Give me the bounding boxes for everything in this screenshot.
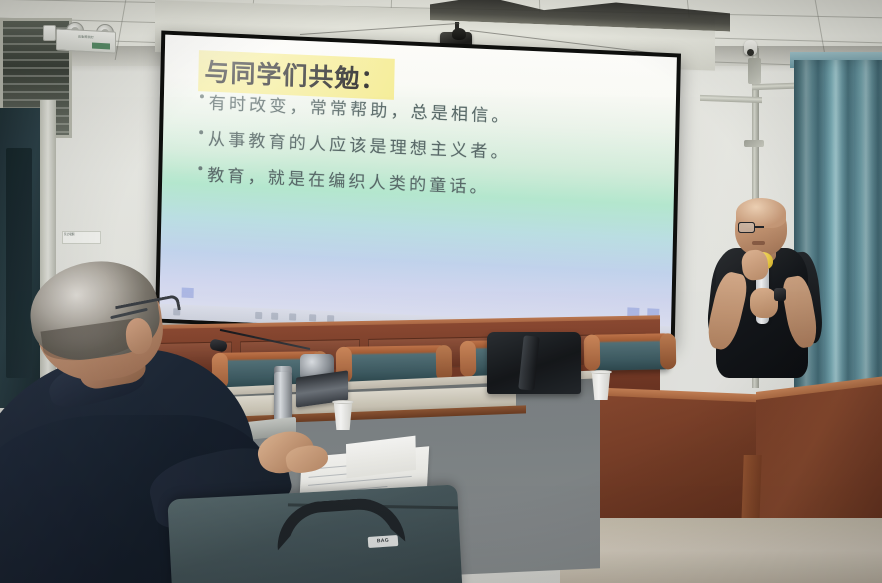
conference-chair[interactable] <box>590 333 671 370</box>
emergency-exit-strip <box>92 43 110 50</box>
ppt-marker-left <box>182 288 194 299</box>
slide-surface[interactable]: 与同学们共勉： 有时改变，常常帮助，总是相信。 从事教育的人应该是理想主义者。 … <box>159 35 677 342</box>
wall-outlet <box>43 25 56 41</box>
conduit-junction-box <box>748 58 761 84</box>
presenter-wristwatch-icon <box>774 288 786 301</box>
bullet-dot-icon <box>198 166 202 170</box>
slide-bullet-3-text: 教育，就是在编织人类的童话。 <box>207 161 490 199</box>
side-door[interactable] <box>0 108 44 408</box>
door-panel-inset <box>6 148 32 378</box>
bullet-dot-icon <box>199 130 203 134</box>
presenter-mouth <box>752 241 765 245</box>
floor-right <box>560 518 882 583</box>
conduit-clamp <box>744 140 764 147</box>
slide-bullet-2-text: 从事教育的人应该是理想主义者。 <box>208 125 511 163</box>
bullet-dot-icon <box>200 94 204 98</box>
slide-bullet-list: 有时改变，常常帮助，总是相信。 从事教育的人应该是理想主义者。 教育，就是在编织… <box>198 88 656 216</box>
projector-lens-icon <box>452 28 466 40</box>
slide-bullet-3: 教育，就是在编织人类的童话。 <box>198 160 654 205</box>
paper-cup-table-rim <box>332 400 354 404</box>
paper-cup-podium-rim <box>590 370 612 374</box>
wall-sign: 禁止吸烟 <box>62 231 101 244</box>
photo-scene: 应急照明灯 禁止吸烟 与同学们共勉： 有时改变，常常帮助，总是相信。 从事 <box>0 0 882 583</box>
presenter-glasses-icon <box>738 222 784 233</box>
security-camera-icon <box>744 40 757 55</box>
tote-bag-brand-tag: BAG <box>368 535 399 548</box>
slide-bullet-1-text: 有时改变，常常帮助，总是相信。 <box>209 89 512 127</box>
black-shoulder-bag[interactable] <box>487 332 581 394</box>
projection-screen[interactable]: 与同学们共勉： 有时改变，常常帮助，总是相信。 从事教育的人应该是理想主义者。 … <box>155 30 681 345</box>
